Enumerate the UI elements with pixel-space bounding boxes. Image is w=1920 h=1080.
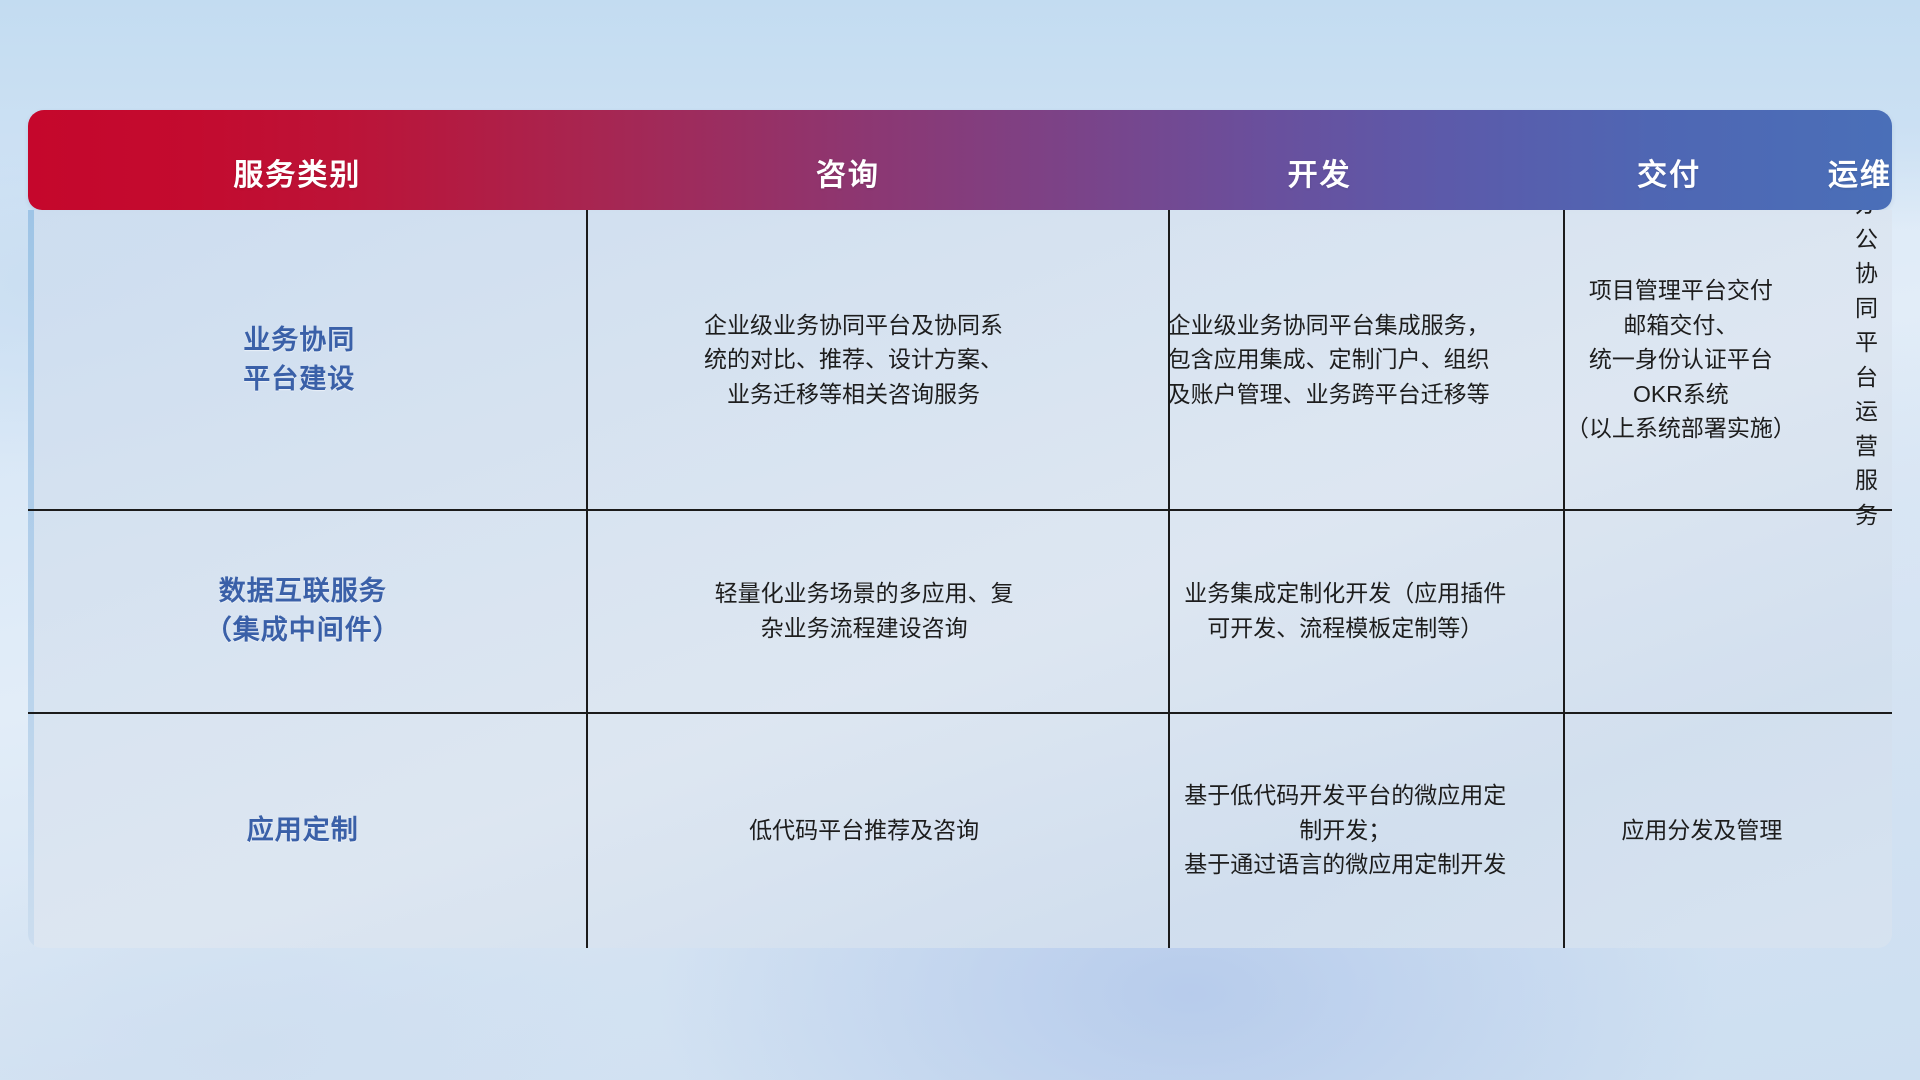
row-1-operations — [1864, 509, 1892, 712]
column-divider — [1168, 210, 1170, 948]
column-header-consulting: 咨询 — [567, 161, 1129, 210]
column-header-operations: 运维 — [1828, 161, 1892, 210]
service-matrix-table: 服务类别 咨询 开发 交付 运维 业务协同 平台建设 企业级业务协同平台及协同系… — [28, 110, 1892, 948]
table-body: 业务协同 平台建设 企业级业务协同平台及协同系 统的对比、推荐、设计方案、 业务… — [28, 210, 1892, 948]
row-0-delivery: 项目管理平台交付 邮箱交付、 统一身份认证平台 OKR系统 （以上系统部署实施） — [1521, 210, 1841, 509]
row-0-operations: 办公协同平台运营服务 — [1841, 210, 1892, 509]
row-0-consulting: 企业级业务协同平台及协同系 统的对比、推荐、设计方案、 业务迁移等相关咨询服务 — [571, 210, 1137, 509]
table-row: 业务协同 平台建设 企业级业务协同平台及协同系 统的对比、推荐、设计方案、 业务… — [28, 210, 1892, 509]
column-header-delivery: 交付 — [1510, 161, 1828, 210]
row-1-development: 业务集成定制化开发（应用插件 可开发、流程模板定制等） — [1151, 509, 1540, 712]
row-2-consulting: 低代码平台推荐及咨询 — [578, 712, 1151, 948]
row-2-category: 应用定制 — [28, 712, 578, 948]
row-0-category: 业务协同 平台建设 — [28, 210, 571, 509]
row-1-consulting: 轻量化业务场景的多应用、复 杂业务流程建设咨询 — [578, 509, 1151, 712]
column-divider — [1563, 210, 1565, 948]
table-row: 数据互联服务 （集成中间件） 轻量化业务场景的多应用、复 杂业务流程建设咨询 业… — [28, 509, 1892, 712]
row-1-delivery — [1540, 509, 1864, 712]
row-1-category: 数据互联服务 （集成中间件） — [28, 509, 578, 712]
table-header-row: 服务类别 咨询 开发 交付 运维 — [28, 110, 1892, 210]
table-row: 应用定制 低代码平台推荐及咨询 基于低代码开发平台的微应用定 制开发； 基于通过… — [28, 712, 1892, 948]
column-divider — [586, 210, 588, 948]
column-header-development: 开发 — [1129, 161, 1510, 210]
row-2-operations — [1864, 712, 1892, 948]
row-0-development: 企业级业务协同平台集成服务， 包含应用集成、定制门户、组织 及账户管理、业务跨平… — [1136, 210, 1520, 509]
row-2-delivery: 应用分发及管理 — [1540, 712, 1864, 948]
column-header-category: 服务类别 — [28, 161, 567, 210]
row-2-development: 基于低代码开发平台的微应用定 制开发； 基于通过语言的微应用定制开发 — [1151, 712, 1540, 948]
